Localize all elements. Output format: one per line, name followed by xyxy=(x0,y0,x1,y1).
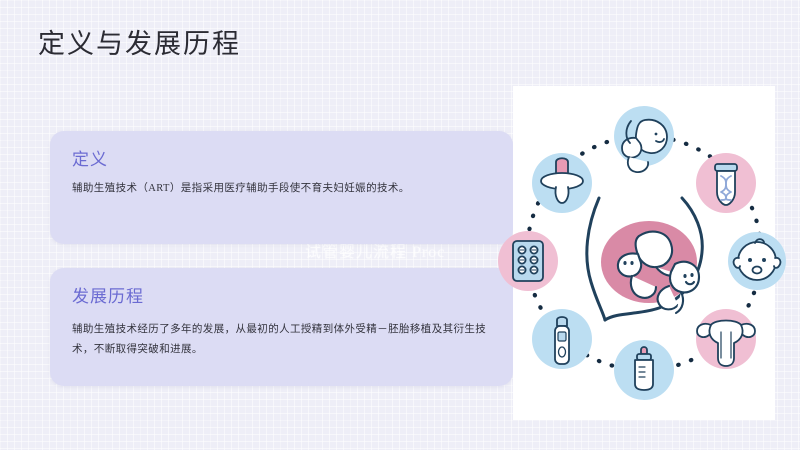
baby-face-icon[interactable] xyxy=(728,232,786,290)
pregnant-belly-figure xyxy=(587,198,702,320)
illustration-panel xyxy=(513,86,775,420)
pacifier-icon[interactable] xyxy=(532,153,592,213)
history-card[interactable]: 发展历程 辅助生殖技术经历了多年的发展，从最初的人工授精到体外受精－胚胎移植及其… xyxy=(50,268,513,386)
definition-card-body: 辅助生殖技术（ART）是指采用医疗辅助手段使不育夫妇妊娠的技术。 xyxy=(72,179,493,199)
history-card-title: 发展历程 xyxy=(72,282,144,307)
slide-canvas: 定义与发展历程 试管婴儿流程 Proc 定义 辅助生殖技术（ART）是指采用医疗… xyxy=(0,0,800,450)
history-card-body: 辅助生殖技术经历了多年的发展，从最初的人工授精到体外受精－胚胎移植及其衍生技术，… xyxy=(72,320,493,361)
fetus-icon[interactable] xyxy=(614,106,674,172)
dna-test-tube-icon[interactable] xyxy=(696,153,756,213)
definition-card[interactable]: 定义 辅助生殖技术（ART）是指采用医疗辅助手段使不育夫妇妊娠的技术。 xyxy=(50,131,513,244)
pregnancy-test-icon[interactable] xyxy=(532,309,592,369)
uterus-icon[interactable] xyxy=(696,309,756,369)
fertility-cycle-illustration xyxy=(499,86,789,420)
page-title: 定义与发展历程 xyxy=(38,28,241,60)
pill-blister-icon[interactable] xyxy=(498,231,558,291)
baby-bottle-icon[interactable] xyxy=(614,340,674,400)
definition-card-title: 定义 xyxy=(72,145,108,170)
